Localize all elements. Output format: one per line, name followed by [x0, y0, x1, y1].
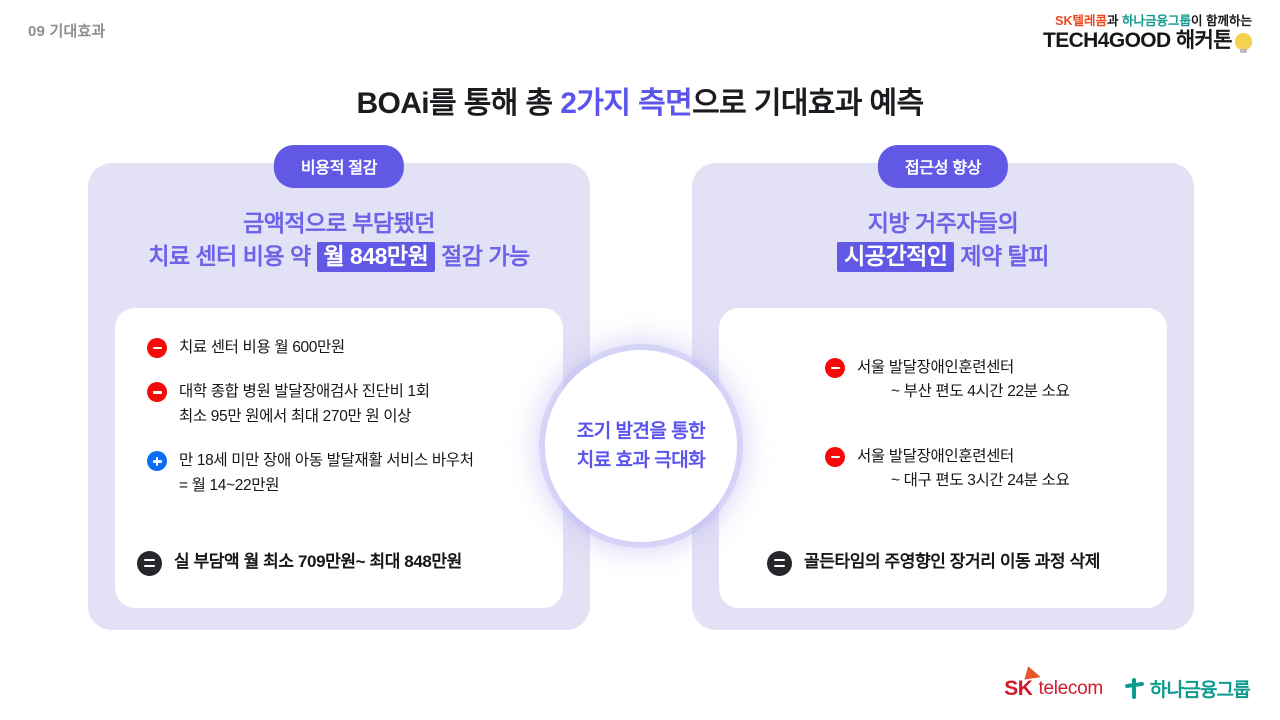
panel-heading-line2-after: 제약 탈피	[954, 243, 1048, 269]
list-item-line2: ~ 부산 편도 4시간 22분 소요	[857, 380, 1070, 404]
brand-conjunction: 과	[1107, 14, 1122, 28]
title-highlight: 2가지 측면	[560, 87, 692, 120]
brand-title-text: TECH4GOOD 해커톤	[1043, 29, 1232, 52]
list-item-label: 대학 종합 병원 발달장애검사 진단비 1회 최소 95만 원에서 최대 270…	[179, 380, 430, 429]
list-item-line1: 서울 발달장애인훈련센터	[857, 445, 1070, 469]
brand-sk-telecom: SK텔레콤	[1055, 14, 1107, 28]
list-item-line1: 대학 종합 병원 발달장애검사 진단비 1회	[179, 380, 430, 404]
total-row-cost-saving: 실 부담액 월 최소 709만원~ 최대 848만원	[137, 549, 462, 576]
brand-tagline-tail: 이 함께하는	[1191, 14, 1252, 28]
list-item: 서울 발달장애인훈련센터 ~ 대구 편도 3시간 24분 소요	[825, 445, 1147, 494]
list-item-line1: 서울 발달장애인훈련센터	[857, 356, 1070, 380]
lightbulb-icon	[1235, 33, 1252, 50]
minus-icon	[825, 447, 845, 467]
panel-heading-line1: 금액적으로 부담됐던	[243, 210, 435, 236]
total-label: 골든타임의 주영향인 장거리 이동 과정 삭제	[804, 549, 1100, 576]
panel-body-cost-saving: 치료 센터 비용 월 600만원 대학 종합 병원 발달장애검사 진단비 1회 …	[115, 308, 563, 608]
list-item: 대학 종합 병원 발달장애검사 진단비 1회 최소 95만 원에서 최대 270…	[147, 380, 539, 429]
panel-heading-line2-before: 치료 센터 비용 약	[148, 243, 316, 269]
center-line1: 조기 발견을 통한	[577, 421, 705, 442]
minus-icon	[825, 358, 845, 378]
title-part-before: BOAi를 통해 총	[356, 87, 560, 120]
total-label: 실 부담액 월 최소 709만원~ 최대 848만원	[174, 549, 462, 576]
center-line2: 치료 효과 극대화	[577, 450, 705, 471]
panel-heading-highlight: 시공간적인	[837, 242, 954, 272]
hana-mark-icon	[1125, 678, 1144, 699]
panel-badge-accessibility: 접근성 향상	[878, 145, 1008, 188]
panel-heading-cost-saving: 금액적으로 부담됐던 치료 센터 비용 약 월 848만원 절감 가능	[88, 207, 590, 272]
equals-icon	[137, 551, 162, 576]
slide-root: 09 기대효과 SK텔레콤과 하나금융그룹이 함께하는 TECH4GOOD 해커…	[0, 0, 1280, 720]
hackathon-brand-lockup: SK텔레콤과 하나금융그룹이 함께하는 TECH4GOOD 해커톤	[1043, 14, 1252, 53]
minus-icon	[147, 382, 167, 402]
list-item-label: 만 18세 미만 장애 아동 발달재활 서비스 바우처 = 월 14~22만원	[179, 449, 474, 498]
brand-tagline: SK텔레콤과 하나금융그룹이 함께하는	[1043, 14, 1252, 28]
panel-cost-saving: 비용적 절감 금액적으로 부담됐던 치료 센터 비용 약 월 848만원 절감 …	[88, 163, 590, 630]
page-title: BOAi를 통해 총 2가지 측면으로 기대효과 예측	[0, 78, 1280, 122]
hana-logo-word: 하나금융그룹	[1150, 675, 1250, 702]
bullet-list-accessibility: 서울 발달장애인훈련센터 ~ 부산 편도 4시간 22분 소요 서울 발달장애인…	[825, 356, 1147, 494]
page-label: 09 기대효과	[28, 20, 105, 41]
panel-heading-highlight: 월 848만원	[317, 242, 436, 272]
list-item-label: 치료 센터 비용 월 600만원	[179, 336, 345, 360]
list-item-line2: ~ 대구 편도 3시간 24분 소요	[857, 469, 1070, 493]
center-highlight-text: 조기 발견을 통한 치료 효과 극대화	[577, 417, 705, 476]
panel-heading-line1: 지방 거주자들의	[868, 210, 1019, 236]
list-item-line2: 최소 95만 원에서 최대 270만 원 이상	[179, 405, 430, 429]
title-part-after: 으로 기대효과 예측	[692, 87, 923, 120]
list-item-line1: 만 18세 미만 장애 아동 발달재활 서비스 바우처	[179, 449, 474, 473]
panel-accessibility: 접근성 향상 지방 거주자들의 시공간적인 제약 탈피 서울 발달장애인훈련센터…	[692, 163, 1194, 630]
total-row-accessibility: 골든타임의 주영향인 장거리 이동 과정 삭제	[767, 549, 1100, 576]
panel-heading-line2-after: 절감 가능	[435, 243, 529, 269]
sk-logo-telecom: telecom	[1038, 678, 1102, 700]
list-item-line2: = 월 14~22만원	[179, 474, 474, 498]
footer-logos: SK telecom 하나금융그룹	[1004, 675, 1250, 702]
panel-heading-accessibility: 지방 거주자들의 시공간적인 제약 탈피	[692, 207, 1194, 272]
list-item-label: 서울 발달장애인훈련센터 ~ 대구 편도 3시간 24분 소요	[857, 445, 1070, 494]
panel-body-accessibility: 서울 발달장애인훈련센터 ~ 부산 편도 4시간 22분 소요 서울 발달장애인…	[719, 308, 1167, 608]
list-item: 치료 센터 비용 월 600만원	[147, 336, 539, 360]
equals-icon	[767, 551, 792, 576]
minus-icon	[147, 338, 167, 358]
sk-telecom-logo: SK telecom	[1004, 677, 1103, 701]
list-item-label: 서울 발달장애인훈련센터 ~ 부산 편도 4시간 22분 소요	[857, 356, 1070, 405]
list-item: 서울 발달장애인훈련센터 ~ 부산 편도 4시간 22분 소요	[825, 356, 1147, 405]
center-highlight-circle: 조기 발견을 통한 치료 효과 극대화	[545, 350, 737, 542]
list-item: 만 18세 미만 장애 아동 발달재활 서비스 바우처 = 월 14~22만원	[147, 449, 539, 498]
brand-title: TECH4GOOD 해커톤	[1043, 29, 1252, 53]
plus-icon	[147, 451, 167, 471]
brand-hana-group: 하나금융그룹	[1122, 14, 1191, 28]
panel-badge-cost-saving: 비용적 절감	[274, 145, 404, 188]
hana-financial-group-logo: 하나금융그룹	[1125, 675, 1250, 702]
bullet-list-cost-saving: 치료 센터 비용 월 600만원 대학 종합 병원 발달장애검사 진단비 1회 …	[147, 336, 539, 498]
